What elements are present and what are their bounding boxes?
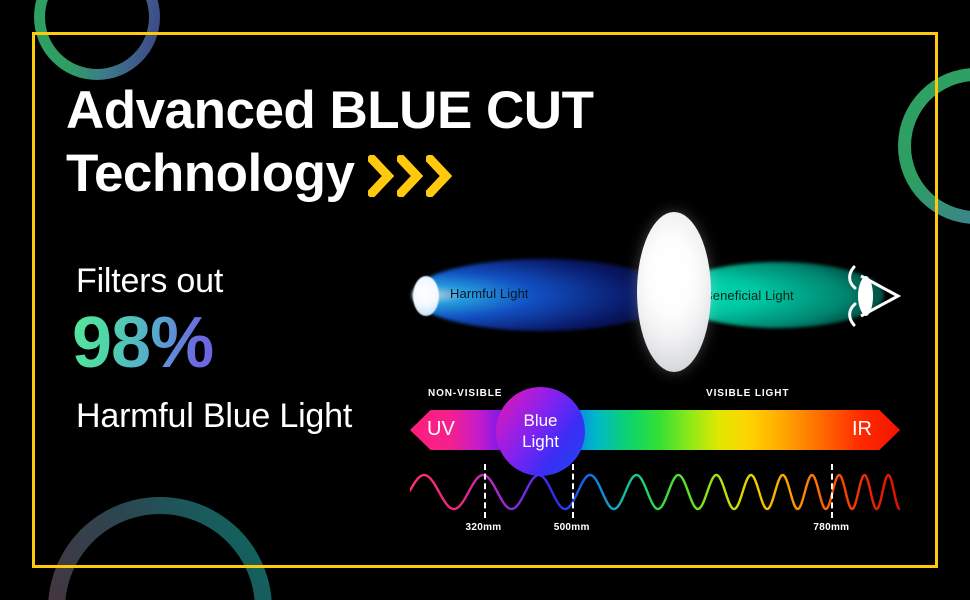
wave-tick-marker [484,464,486,518]
spectrum-uv-label: UV [427,418,455,441]
decorative-ring-top-left [34,0,160,80]
blue-light-label-line-2: Light [522,432,559,452]
stat-percentage-value: 98% [72,302,213,384]
chevron-right-icon [368,155,394,197]
wave-tick-label: 500mm [554,522,590,533]
spectrum-ir-label: IR [852,418,872,441]
wave-tick-marker [572,464,574,518]
page-title: Advanced BLUE CUT Technology [66,80,626,205]
wave-tick-label: 320mm [466,522,502,533]
beneficial-light-label: Beneficial Light [704,288,794,303]
chevrons-right-icon [368,155,452,197]
wavelength-wave-chart: 320mm500mm780mm [410,466,900,536]
spectrum-non-visible-label: NON-VISIBLE [428,388,502,399]
harmful-light-label: Harmful Light [450,286,529,301]
spectrum-visible-light-label: VISIBLE LIGHT [706,388,789,399]
eye-side-profile-icon [843,262,901,330]
decorative-ring-bottom-left [48,497,272,600]
spectrum-gradient-bar [410,410,900,450]
wave-tick-label: 780mm [813,522,849,533]
headline-line-2: Technology [66,143,354,206]
blue-cut-lens [637,212,711,372]
stat-suffix-label: Harmful Blue Light [76,394,376,439]
promo-banner: Advanced BLUE CUT Technology Filters out… [0,0,970,600]
light-source-icon [413,276,439,316]
chevron-right-icon [426,155,452,197]
blue-light-label-line-1: Blue [523,411,557,431]
chevron-right-icon [397,155,423,197]
blue-light-badge: Blue Light [496,387,585,476]
stat-prefix-label: Filters out [76,262,223,301]
wave-tick-marker [831,464,833,518]
headline-line-1: Advanced BLUE CUT [66,80,626,143]
light-spectrum-chart: NON-VISIBLE VISIBLE LIGHT UV IR [410,388,900,452]
decorative-ring-right [898,68,970,224]
